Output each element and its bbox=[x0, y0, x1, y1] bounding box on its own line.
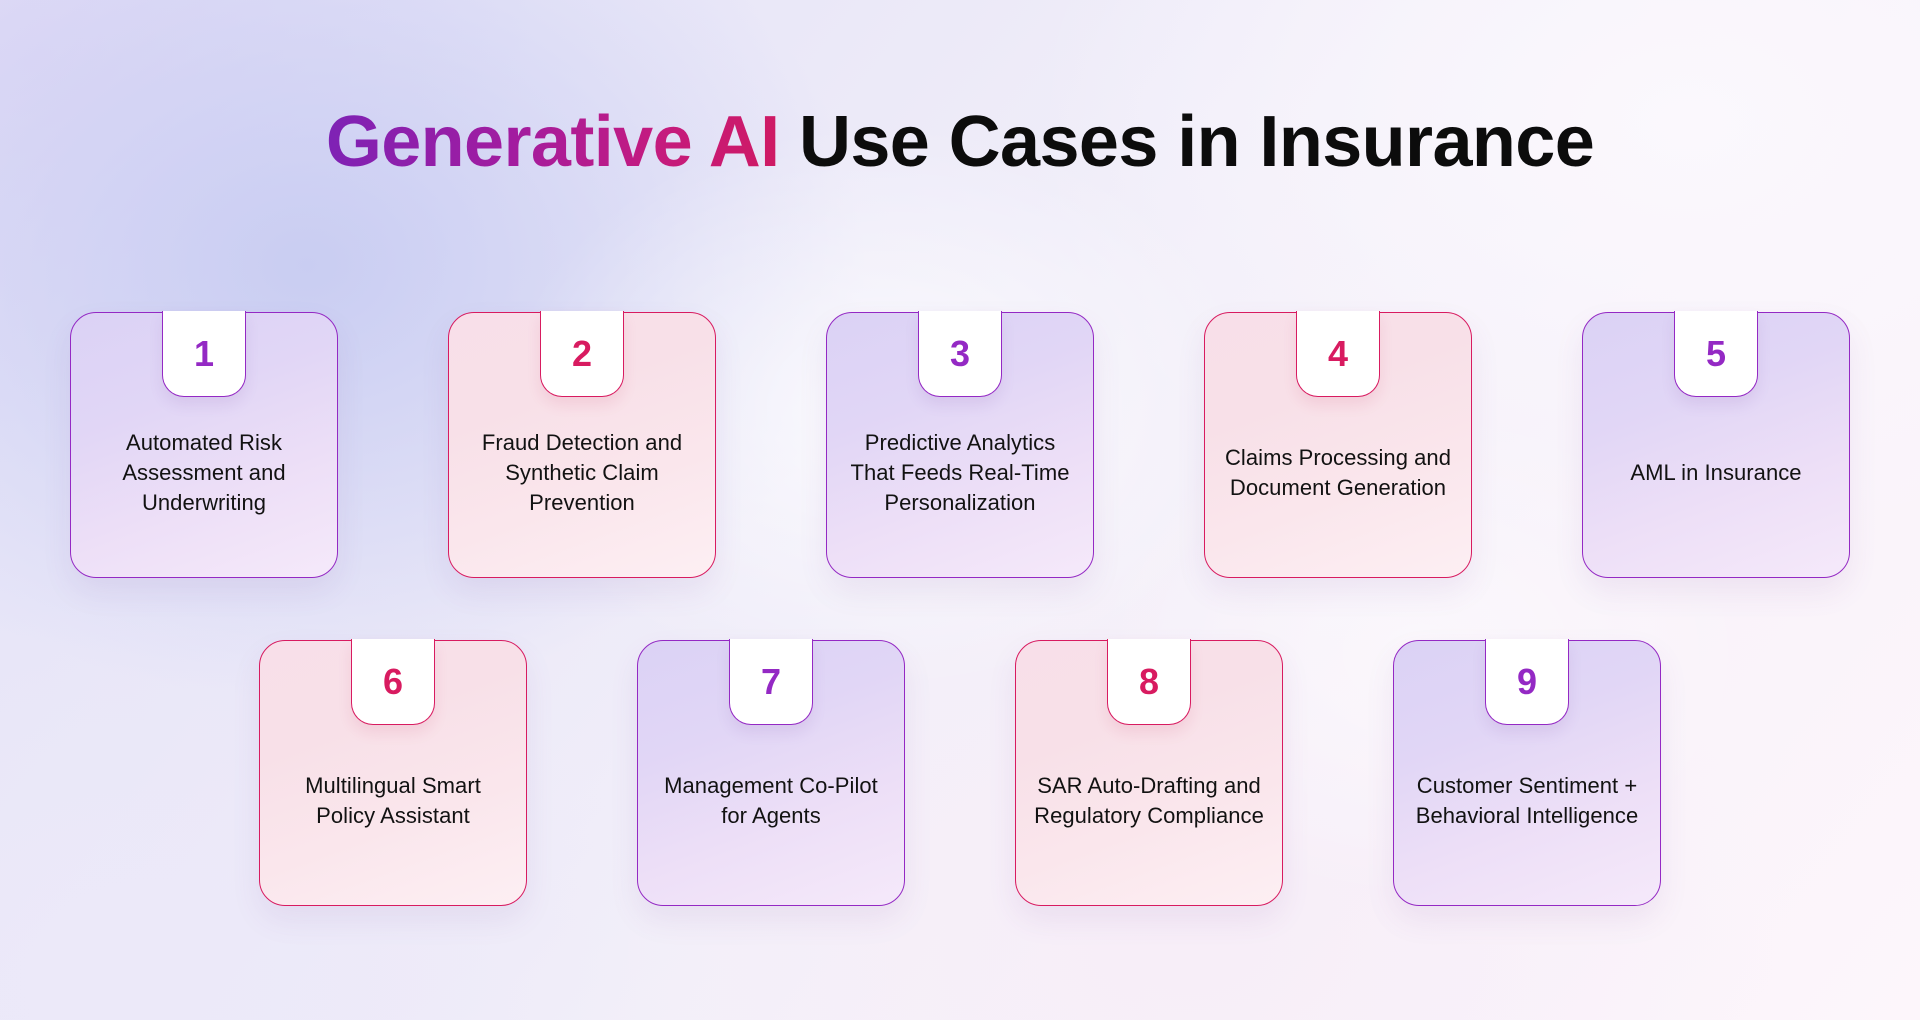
card-number-badge: 4 bbox=[1296, 311, 1380, 397]
infographic-canvas: Generative AI Use Cases in Insurance 1Au… bbox=[0, 0, 1920, 1020]
card-number-badge: 9 bbox=[1485, 639, 1569, 725]
use-case-card-7[interactable]: 7Management Co-Pilot for Agents bbox=[637, 640, 905, 906]
use-case-card-5[interactable]: 5AML in Insurance bbox=[1582, 312, 1850, 578]
use-case-card-6[interactable]: 6Multilingual Smart Policy Assistant bbox=[259, 640, 527, 906]
card-number-badge: 1 bbox=[162, 311, 246, 397]
card-number-badge: 6 bbox=[351, 639, 435, 725]
card-label: Management Co-Pilot for Agents bbox=[656, 771, 886, 831]
title-rest-text: Use Cases in Insurance bbox=[780, 102, 1595, 182]
use-case-card-4[interactable]: 4Claims Processing and Document Generati… bbox=[1204, 312, 1472, 578]
card-number-badge: 5 bbox=[1674, 311, 1758, 397]
card-label: Predictive Analytics That Feeds Real-Tim… bbox=[845, 428, 1075, 518]
card-label: Fraud Detection and Synthetic Claim Prev… bbox=[467, 428, 697, 518]
card-label: SAR Auto-Drafting and Regulatory Complia… bbox=[1034, 771, 1264, 831]
use-case-card-9[interactable]: 9Customer Sentiment + Behavioral Intelli… bbox=[1393, 640, 1661, 906]
card-label: Multilingual Smart Policy Assistant bbox=[278, 771, 508, 831]
use-case-card-1[interactable]: 1Automated Risk Assessment and Underwrit… bbox=[70, 312, 338, 578]
use-case-card-2[interactable]: 2Fraud Detection and Synthetic Claim Pre… bbox=[448, 312, 716, 578]
card-label: AML in Insurance bbox=[1630, 458, 1801, 488]
card-row-top: 1Automated Risk Assessment and Underwrit… bbox=[0, 312, 1920, 578]
use-case-card-8[interactable]: 8SAR Auto-Drafting and Regulatory Compli… bbox=[1015, 640, 1283, 906]
title-heading: Generative AI Use Cases in Insurance bbox=[0, 104, 1920, 182]
card-row-bottom: 6Multilingual Smart Policy Assistant7Man… bbox=[0, 640, 1920, 906]
title-accent-text: Generative AI bbox=[326, 102, 780, 182]
card-label: Claims Processing and Document Generatio… bbox=[1223, 443, 1453, 503]
card-number-badge: 2 bbox=[540, 311, 624, 397]
page-title: Generative AI Use Cases in Insurance bbox=[0, 104, 1920, 182]
card-label: Customer Sentiment + Behavioral Intellig… bbox=[1412, 771, 1642, 831]
card-number-badge: 3 bbox=[918, 311, 1002, 397]
card-number-badge: 8 bbox=[1107, 639, 1191, 725]
use-case-card-3[interactable]: 3Predictive Analytics That Feeds Real-Ti… bbox=[826, 312, 1094, 578]
card-number-badge: 7 bbox=[729, 639, 813, 725]
card-label: Automated Risk Assessment and Underwriti… bbox=[89, 428, 319, 518]
